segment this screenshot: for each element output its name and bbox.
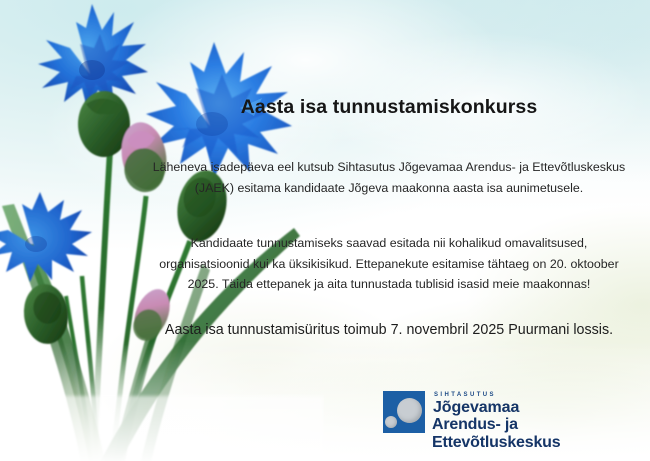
event-paragraph: Aasta isa tunnustamisüritus toimub 7. no…: [150, 320, 628, 341]
logo-line-2: Arendus- ja Ettevõtluskeskus: [432, 416, 650, 452]
poster-canvas: Aasta isa tunnustamiskonkurss Läheneva i…: [0, 0, 650, 461]
logo-large-circle-icon: [397, 398, 422, 423]
logo-notch: [379, 417, 389, 433]
page-title: Aasta isa tunnustamiskonkurss: [150, 96, 628, 119]
logo-wordmark: SIHTASUTUS Jõgevamaa Arendus- ja Ettevõt…: [432, 390, 650, 452]
intro-paragraph: Läheneva isadepäeva eel kutsub Sihtasutu…: [150, 157, 628, 198]
logo-kicker: SIHTASUTUS: [434, 391, 650, 399]
details-paragraph: Kandidaate tunnustamiseks saavad esitada…: [150, 233, 628, 295]
circles-square-logo-icon: [383, 391, 425, 433]
organisation-logo: SIHTASUTUS Jõgevamaa Arendus- ja Ettevõt…: [383, 390, 650, 452]
logo-line-1: Jõgevamaa: [433, 399, 650, 416]
